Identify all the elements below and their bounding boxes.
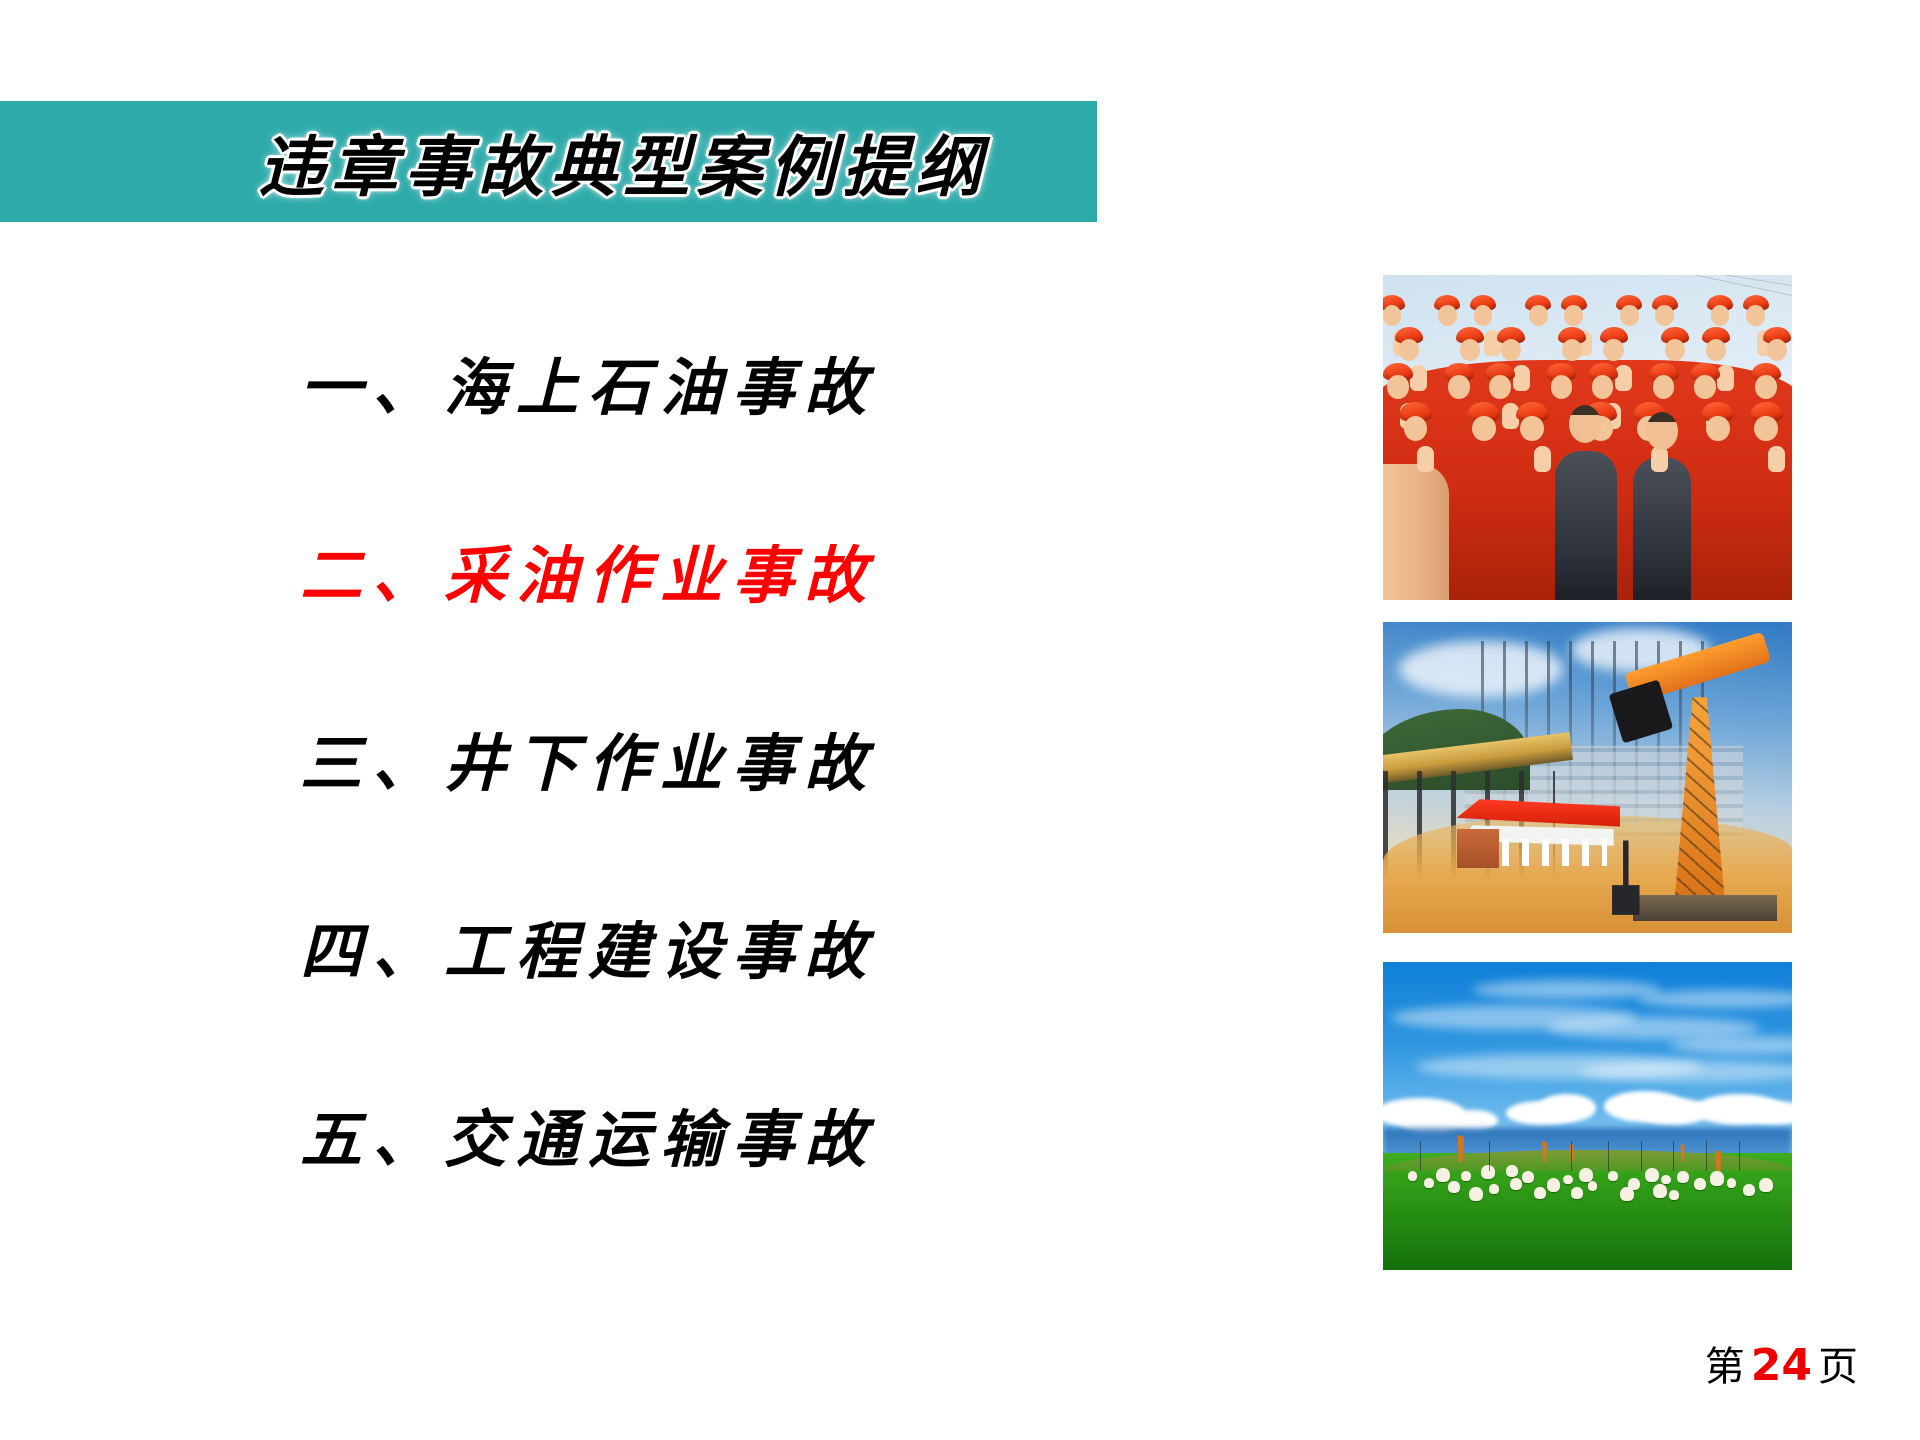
cirrus-cloud: [1473, 980, 1661, 998]
grazing-sheep: [1661, 1175, 1671, 1185]
worker-face: [1501, 339, 1521, 361]
cumulus-cloud: [1538, 1094, 1595, 1122]
outline-item-5[interactable]: 五、交通运输事故: [300, 1107, 1080, 1295]
clapping-hand: [1768, 446, 1785, 472]
clapping-hand: [1534, 446, 1551, 472]
official-suit-1: [1555, 451, 1617, 601]
page-number: 第24页: [1705, 1334, 1858, 1392]
station-canopy: [1457, 799, 1621, 826]
petrochina-gas-station: [1457, 799, 1621, 867]
grazing-sheep: [1563, 1175, 1573, 1185]
outline-item-3[interactable]: 三、井下作业事故: [300, 731, 1080, 919]
worker-face: [1755, 375, 1777, 398]
clapping-hand: [1717, 365, 1734, 391]
worker-face: [1551, 375, 1573, 398]
worker-face: [1529, 305, 1548, 325]
clapping-hand: [1513, 365, 1530, 391]
grazing-sheep: [1436, 1168, 1450, 1182]
worker-face: [1438, 305, 1457, 325]
outline-item-2[interactable]: 二、采油作业事故: [300, 543, 1080, 731]
worker-face: [1653, 375, 1675, 398]
utility-pole: [1739, 1141, 1740, 1172]
worker-face: [1754, 416, 1778, 442]
outline-item-1[interactable]: 一、海上石油事故: [300, 355, 1080, 543]
worker-face: [1383, 305, 1401, 325]
wellhead: [1612, 840, 1639, 914]
worker-face: [1746, 305, 1765, 325]
grazing-sheep: [1620, 1187, 1634, 1201]
worker-face: [1603, 339, 1623, 361]
pumpjack-bracing: [1674, 697, 1726, 909]
oil-workers-applauding-photo: [1383, 275, 1792, 600]
grazing-sheep: [1547, 1178, 1561, 1192]
clapping-hand: [1417, 446, 1434, 472]
grazing-sheep: [1481, 1165, 1495, 1179]
utility-pole: [1641, 1141, 1642, 1172]
grazing-sheep: [1727, 1178, 1737, 1188]
grazing-sheep: [1469, 1187, 1483, 1201]
grassland-oilfield-photo: [1383, 962, 1792, 1270]
grazing-sheep: [1743, 1184, 1755, 1196]
grazing-sheep: [1608, 1171, 1618, 1181]
grazing-sheep: [1522, 1171, 1534, 1183]
oil-industry-composite-photo: [1383, 622, 1792, 933]
grazing-sheep: [1534, 1187, 1546, 1199]
clapping-hand: [1615, 365, 1632, 391]
cirrus-cloud: [1579, 1061, 1792, 1083]
official-face: [1569, 405, 1601, 443]
worker-face: [1711, 305, 1730, 325]
worker-face: [1472, 416, 1496, 442]
clapping-hand: [1410, 365, 1427, 391]
official-suit-2: [1633, 457, 1691, 600]
worker-face: [1767, 339, 1787, 361]
worker-face: [1665, 339, 1685, 361]
pumpjack: [1612, 634, 1784, 920]
grazing-sheep: [1653, 1184, 1667, 1198]
grazing-sheep: [1669, 1190, 1679, 1200]
utility-pole: [1571, 1141, 1572, 1172]
grazing-sheep: [1694, 1178, 1706, 1190]
worker-face: [1387, 375, 1409, 398]
worker-face: [1694, 375, 1716, 398]
worker-face: [1592, 375, 1614, 398]
station-shop: [1457, 829, 1500, 867]
grazing-sheep: [1448, 1181, 1460, 1193]
utility-pole: [1608, 1141, 1609, 1172]
page-number-prefix: 第: [1705, 1344, 1745, 1390]
pumpjack-base: [1633, 895, 1777, 921]
page-number-value: 24: [1745, 1340, 1818, 1391]
worker-face: [1655, 305, 1674, 325]
grazing-sheep: [1408, 1171, 1418, 1181]
page-title: 违章事故典型案例提纲: [0, 101, 1097, 222]
grazing-sheep: [1571, 1187, 1583, 1199]
page-number-suffix: 页: [1818, 1344, 1858, 1390]
fuel-pumps: [1502, 839, 1607, 866]
official-face: [1646, 412, 1678, 450]
worker-face: [1399, 339, 1419, 361]
grazing-sheep: [1424, 1178, 1434, 1188]
grazing-sheep: [1489, 1184, 1499, 1194]
photo-2-canvas: [1383, 622, 1792, 933]
photo-3-canvas: [1383, 962, 1792, 1270]
worker-face: [1448, 375, 1470, 398]
grazing-sheep: [1588, 1181, 1598, 1191]
slide-canvas: 违章事故典型案例提纲 一、海上石油事故 二、采油作业事故 三、井下作业事故 四、…: [0, 0, 1920, 1440]
clapping-hand: [1651, 446, 1668, 472]
worker-face: [1489, 375, 1511, 398]
worker-face: [1706, 339, 1726, 361]
utility-pole: [1420, 1141, 1421, 1172]
worker-face: [1460, 339, 1480, 361]
outline-item-4[interactable]: 四、工程建设事故: [300, 919, 1080, 1107]
worker-face: [1564, 305, 1583, 325]
grazing-sheep: [1710, 1171, 1724, 1185]
worker-face: [1706, 416, 1730, 442]
grazing-sheep: [1759, 1178, 1773, 1192]
grazing-sheep: [1461, 1171, 1471, 1181]
utility-pole: [1673, 1141, 1674, 1172]
worker-face: [1620, 305, 1639, 325]
photo-1-canvas: [1383, 275, 1792, 600]
grazing-sheep: [1506, 1165, 1518, 1177]
utility-pole: [1706, 1141, 1707, 1172]
outline-list: 一、海上石油事故 二、采油作业事故 三、井下作业事故 四、工程建设事故 五、交通…: [300, 355, 1080, 1295]
worker-face: [1474, 305, 1493, 325]
foreground-arm: [1383, 464, 1449, 601]
grazing-sheep: [1510, 1178, 1522, 1190]
worker-face: [1562, 339, 1582, 361]
utility-pole: [1489, 1141, 1490, 1172]
grazing-sheep: [1645, 1168, 1659, 1182]
